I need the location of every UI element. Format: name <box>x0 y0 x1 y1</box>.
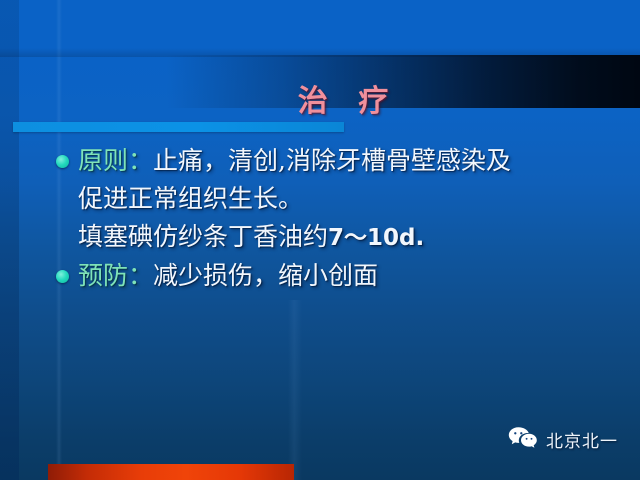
detail-line-dosage: 填塞碘仿纱条丁香油约7～10d. <box>0 218 640 257</box>
title-band-feather <box>0 48 640 57</box>
mid-vertical-seam <box>288 300 302 480</box>
bullet-line-2-text: 减少损伤，缩小创面 <box>153 261 378 290</box>
bullet-line-2-keyword: 预防： <box>78 261 153 290</box>
detail-line-dosage-text: 填塞碘仿纱条丁香油约 <box>78 222 328 251</box>
presentation-slide: 治 疗 原则：止痛，清创,消除牙槽骨壁感染及 促进正常组织生长。 填塞碘仿纱条丁… <box>0 0 640 480</box>
wechat-icon <box>508 426 538 452</box>
detail-line-dosage-duration: 7～10d. <box>328 225 424 251</box>
slide-body: 原则：止痛，清创,消除牙槽骨壁感染及 促进正常组织生长。 填塞碘仿纱条丁香油约7… <box>0 142 640 295</box>
bullet-line-1-continuation: 促进正常组织生长。 <box>0 180 640 218</box>
watermark: 北京北一 <box>508 426 618 452</box>
slide-title: 治 疗 <box>0 76 640 120</box>
bullet-line-1-keyword: 原则： <box>78 146 153 175</box>
watermark-label: 北京北一 <box>546 427 618 452</box>
bullet-line-1-text: 止痛，清创,消除牙槽骨壁感染及 <box>153 146 511 175</box>
bullet-line-1: 原则：止痛，清创,消除牙槽骨壁感染及 <box>0 142 640 180</box>
bullet-dot-icon <box>56 270 69 283</box>
bottom-accent-bar <box>48 464 294 480</box>
title-underline-rule <box>13 122 344 132</box>
bullet-dot-icon <box>56 155 69 168</box>
bullet-line-1-continuation-text: 促进正常组织生长。 <box>78 184 303 213</box>
bullet-line-2: 预防：减少损伤，缩小创面 <box>0 257 640 295</box>
